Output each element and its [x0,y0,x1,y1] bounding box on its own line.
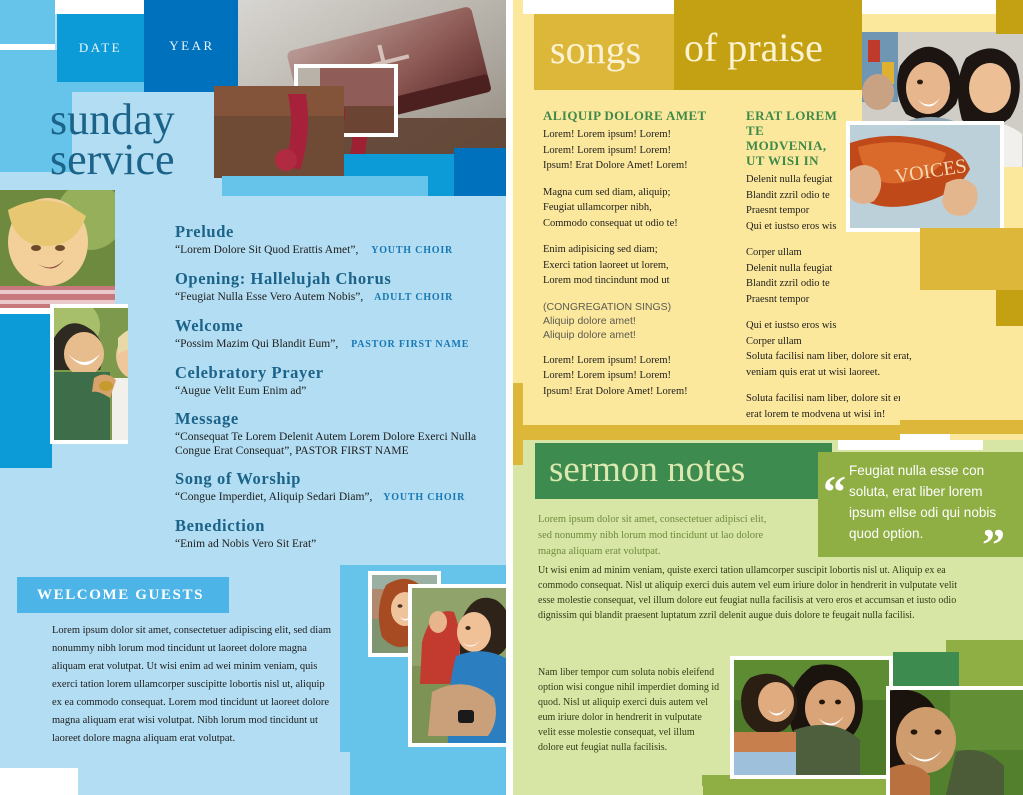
green-accent-block-c [702,775,902,795]
date-chip-label: DATE [79,40,122,56]
service-item: Celebratory Prayer “Augue Velit Eum Enim… [175,363,495,398]
green-accent-block-b [893,652,959,690]
bottom-left-blue-notch [0,762,340,768]
young-couple-photo [412,588,516,743]
sermon-white-gap-mid [838,440,983,450]
service-item: Song of Worship “Congue Imperdiet, Aliqu… [175,469,495,505]
song-right-heading: ERAT LOREM TE MODVENIA, UT WISI IN [746,108,846,168]
sermon-paragraph: Nam liber tempor cum soluta nobis eleife… [538,665,720,755]
service-performer: PASTOR FIRST NAME [351,339,469,350]
mother-and-child-in-grass-photo [734,660,889,775]
service-performer: YOUTH CHOIR [383,492,465,503]
left-bright-block [0,314,52,468]
service-item: Benediction “Enim ad Nobis Vero Sit Erat… [175,516,495,551]
service-item-song: “Enim ad Nobis Vero Sit Erat” [175,537,495,551]
bottom-blue-block-b [340,555,520,565]
left-white-gap [0,44,55,50]
bottom-blue-block-c [340,752,350,795]
service-item-song: “Feugiat Nulla Esse Vero Autem Nobis”, A… [175,290,495,305]
service-item-song: “Consequat Te Lorem Delenit Autem Lorem … [175,430,485,458]
service-item-song: “Possim Mazim Qui Blandit Eum”, PASTOR F… [175,337,495,352]
service-item-title: Prelude [175,222,495,242]
year-chip-label: YEAR [169,38,214,54]
song-left-verse: Magna cum sed diam, aliquip; Feugiat ull… [543,185,723,232]
welcome-guests-heading-label: WELCOME GUESTS [37,587,204,604]
service-item-title: Welcome [175,316,495,336]
service-performer: PASTOR FIRST NAME [295,445,409,457]
brochure-page: DATE YEAR sunday service [0,0,1023,795]
service-item-song: “Congue Imperdiet, Aliquip Sedari Diam”,… [175,490,495,505]
service-item-song: “Lorem Dolore Sit Quod Erattis Amet”, YO… [175,243,495,258]
sermon-paragraph: Ut wisi enim ad minim veniam, quiste exe… [538,563,970,623]
gold-accent-block-a [996,0,1023,34]
divider-green-strip [513,465,523,795]
bottom-right-white-notch [523,786,703,795]
divider-gold-strip [513,0,523,440]
service-item: Welcome “Possim Mazim Qui Blandit Eum”, … [175,316,495,352]
sermon-lead-paragraph: Lorem ipsum dolor sit amet, consectetuer… [538,512,778,560]
service-item-title: Message [175,409,495,429]
song-left-verse: Enim adipisicing sed diam; Exerci tation… [543,242,723,289]
song-left-verse: Lorem! Lorem ipsum! Lorem! Lorem! Lorem … [543,127,723,174]
bottom-left-white-notch [0,768,78,795]
song-congregation-note: (CONGREGATION SINGS) Aliquip dolore amet… [543,300,723,342]
song-left-closing: Lorem! Lorem ipsum! Lorem! Lorem! Lorem … [543,353,723,400]
order-of-service-list: Prelude “Lorem Dolore Sit Quod Erattis A… [175,222,495,562]
songs-title-part1: songs [550,30,641,70]
year-chip[interactable]: YEAR [144,0,240,92]
welcome-guests-body: Lorem ipsum dolor sit amet, consectetuer… [52,622,336,748]
sermon-title: sermon notes [549,451,745,488]
gold-accent-block-c [996,290,1023,326]
song-right-verse: Corper ullam Delenit nulla feugiat Bland… [746,245,946,307]
sermon-gold-accent-right [900,420,1023,434]
songs-column-right: ERAT LOREM TE MODVENIA, UT WISI IN Delen… [746,108,946,433]
song-right-verse: Delenit nulla feugiat Blandit zzril odio… [746,172,846,234]
top-left-mid-block [0,0,55,50]
service-song-text: “Lorem Dolore Sit Quod Erattis Amet”, [175,244,358,256]
songs-column-left: ALIQUIP DOLORE AMET Lorem! Lorem ipsum! … [543,108,723,410]
service-song-text: “Augue Velit Eum Enim ad” [175,385,306,397]
songs-title-part2: of praise [684,28,823,68]
service-song-text: “Feugiat Nulla Esse Vero Autem Nobis”, [175,291,363,303]
service-item-title: Benediction [175,516,495,536]
service-item-song: “Augue Velit Eum Enim ad” [175,384,495,398]
service-item: Opening: Hallelujah Chorus “Feugiat Null… [175,269,495,305]
service-song-text: “Possim Mazim Qui Blandit Eum”, [175,338,338,350]
child-in-grass-photo [890,690,1023,795]
service-song-text: “Enim ad Nobis Vero Sit Erat” [175,538,316,550]
bible-table-photo [214,86,344,178]
laughing-boy-photo [0,190,115,308]
service-performer: ADULT CHOIR [374,292,453,303]
service-item-title: Opening: Hallelujah Chorus [175,269,495,289]
song-left-heading: ALIQUIP DOLORE AMET [543,108,723,123]
service-item: Message “Consequat Te Lorem Delenit Aute… [175,409,495,458]
service-performer: YOUTH CHOIR [371,245,453,256]
song-right-verse: Qui et iustso eros wis Corper ullam Solu… [746,318,946,380]
service-item-title: Celebratory Prayer [175,363,495,383]
date-chip[interactable]: DATE [57,14,144,82]
sermon-gold-top-strip [523,425,923,440]
service-song-text: “Congue Imperdiet, Aliquip Sedari Diam”, [175,491,372,503]
welcome-guests-heading: WELCOME GUESTS [17,577,229,613]
service-item-title: Song of Worship [175,469,495,489]
service-item: Prelude “Lorem Dolore Sit Quod Erattis A… [175,222,495,258]
